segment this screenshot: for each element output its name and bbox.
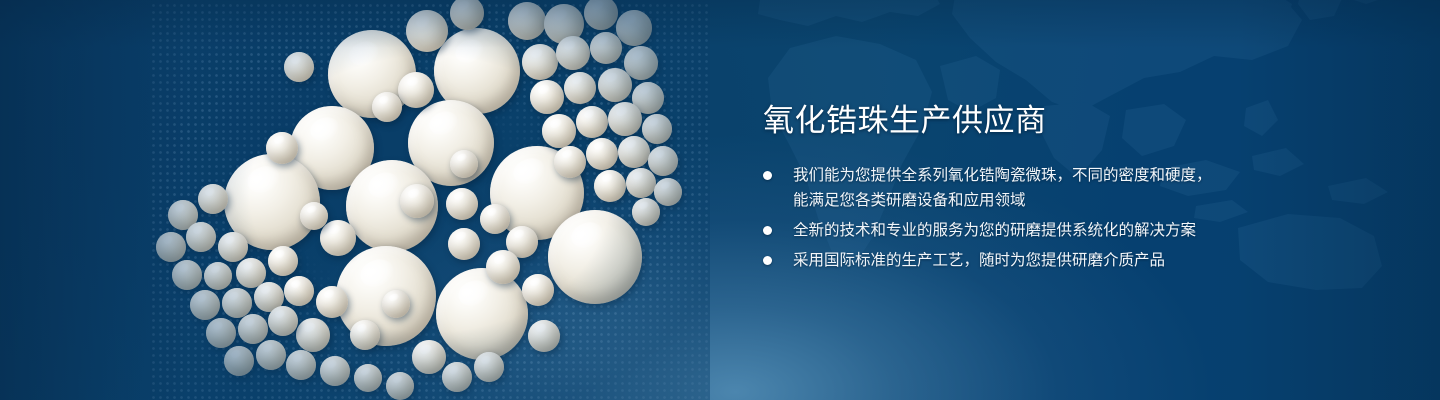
list-item: 采用国际标准的生产工艺，随时为您提供研磨介质产品 (760, 249, 1230, 272)
list-item: 我们能为您提供全系列氧化锆陶瓷微珠，不同的密度和硬度， 能满足您各类研磨设备和应… (760, 164, 1230, 212)
beads-cluster (150, 0, 710, 400)
list-item-line: 采用国际标准的生产工艺，随时为您提供研磨介质产品 (793, 249, 1230, 272)
page-title: 氧化锆珠生产供应商 (763, 104, 1230, 138)
banner-content: 氧化锆珠生产供应商 我们能为您提供全系列氧化锆陶瓷微珠，不同的密度和硬度， 能满… (760, 104, 1230, 272)
bullet-dot-icon (763, 226, 772, 235)
zirconia-beads-photo (150, 0, 710, 400)
bullet-dot-icon (763, 256, 772, 265)
feature-list: 我们能为您提供全系列氧化锆陶瓷微珠，不同的密度和硬度， 能满足您各类研磨设备和应… (760, 164, 1230, 272)
list-item-line: 我们能为您提供全系列氧化锆陶瓷微珠，不同的密度和硬度， (793, 164, 1230, 187)
hero-banner: 氧化锆珠生产供应商 我们能为您提供全系列氧化锆陶瓷微珠，不同的密度和硬度， 能满… (0, 0, 1440, 400)
list-item: 全新的技术和专业的服务为您的研磨提供系统化的解决方案 (760, 219, 1230, 242)
bullet-dot-icon (763, 171, 772, 180)
list-item-line: 能满足您各类研磨设备和应用领域 (793, 189, 1230, 212)
list-item-line: 全新的技术和专业的服务为您的研磨提供系统化的解决方案 (793, 219, 1230, 242)
